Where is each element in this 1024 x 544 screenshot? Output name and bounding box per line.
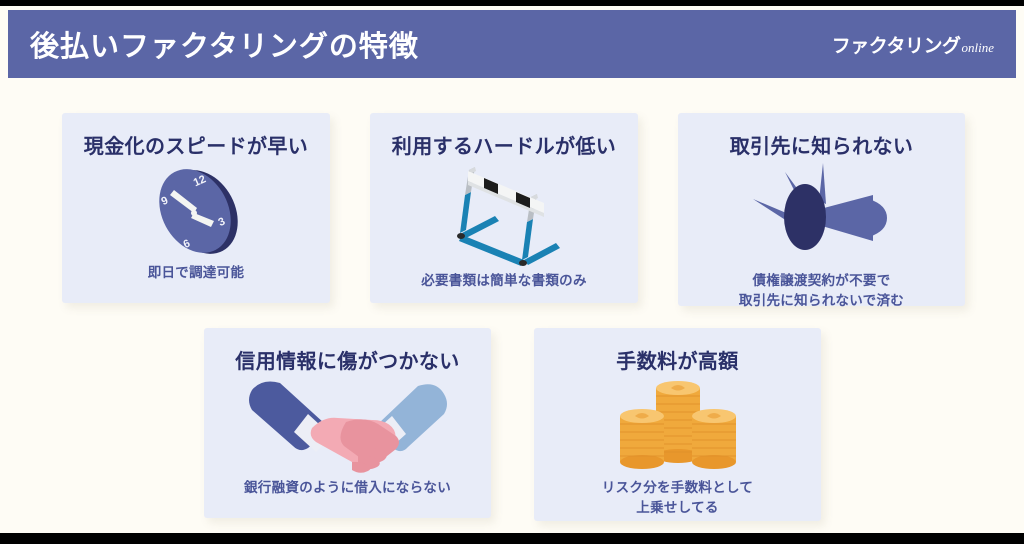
icon-container: [534, 374, 821, 478]
feature-card-credit: 信用情報に傷がつかない 銀行融資のように借入にならない: [204, 328, 491, 518]
caption-line: 上乗せしてる: [534, 498, 821, 518]
card-caption: 即日で調達可能: [62, 263, 330, 283]
coin-stack-icon: [615, 374, 741, 478]
card-title: 現金化のスピードが早い: [84, 130, 308, 159]
card-title: 取引先に知られない: [730, 130, 914, 159]
clock-icon: 12 3 6 9: [138, 159, 254, 263]
card-caption: 銀行融資のように借入にならない: [204, 478, 491, 498]
caption-line: リスク分を手数料として: [534, 478, 821, 498]
icon-container: [370, 159, 638, 271]
caption-line: 取引先に知られないで済む: [678, 291, 965, 311]
icon-container: 12 3 6 9: [62, 159, 330, 263]
slide-canvas: 後払いファクタリングの特徴 ファクタリング online 現金化のスピードが早い…: [0, 6, 1024, 533]
card-title: 利用するハードルが低い: [392, 130, 616, 159]
hurdle-icon: [438, 159, 570, 271]
card-caption: 債権譲渡契約が不要で 取引先に知られないで済む: [678, 271, 965, 310]
handshake-icon: [246, 376, 450, 476]
feature-card-high-fee: 手数料が高額: [534, 328, 821, 521]
brand-logo: ファクタリング online: [832, 31, 994, 58]
feature-card-speed: 現金化のスピードが早い 12 3 6 9 即日で調達可能: [62, 113, 330, 303]
feature-card-low-hurdle: 利用するハードルが低い: [370, 113, 638, 303]
page-title: 後払いファクタリングの特徴: [30, 23, 419, 65]
card-caption: リスク分を手数料として 上乗せしてる: [534, 478, 821, 517]
icon-container: [204, 374, 491, 478]
card-caption: 必要書類は簡単な書類のみ: [370, 271, 638, 291]
header-bar: 後払いファクタリングの特徴 ファクタリング online: [8, 10, 1016, 78]
logo-main-text: ファクタリング: [832, 31, 961, 58]
card-title: 信用情報に傷がつかない: [235, 345, 459, 374]
feature-card-confidential: 取引先に知られない 債権譲渡契約が不要で 取引先に知られないで済む: [678, 113, 965, 306]
logo-sub-text: online: [962, 40, 995, 56]
megaphone-icon: [747, 159, 897, 271]
icon-container: [678, 159, 965, 271]
caption-line: 債権譲渡契約が不要で: [678, 271, 965, 291]
card-title: 手数料が高額: [616, 345, 738, 374]
